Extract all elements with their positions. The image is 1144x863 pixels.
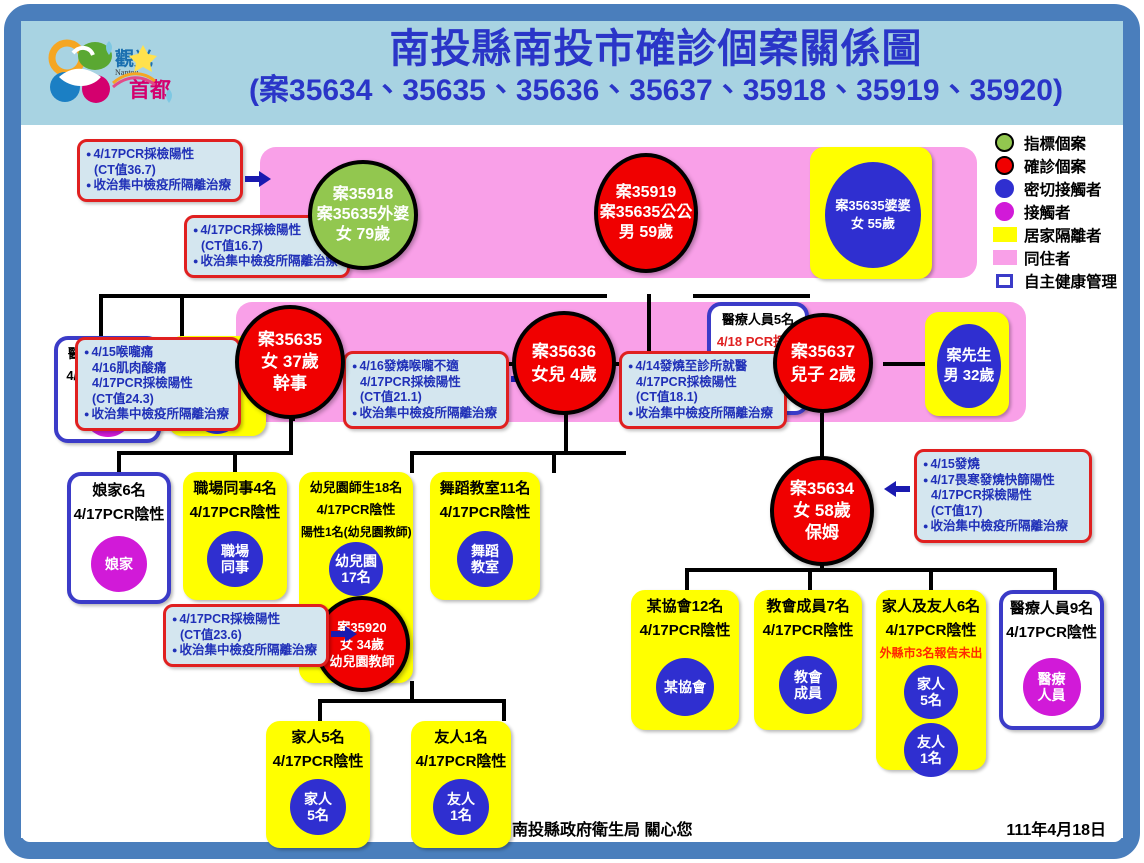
connector <box>883 362 927 366</box>
chip-line: 友人 <box>447 791 475 807</box>
group-coworkers-4[interactable]: 職場同事4名 4/17PCR陰性 職場 同事 <box>183 472 287 600</box>
group-line: 4/17PCR陰性 <box>185 498 285 522</box>
chip-line: 教會 <box>794 669 822 685</box>
callout-line: 收治集中檢疫所隔離治療 <box>172 643 319 659</box>
group-line: 4/17PCR陰性 <box>71 500 167 524</box>
connector <box>410 451 626 455</box>
diagram-canvas: 4/17PCR採檢陽性 (CT值36.7) 收治集中檢疫所隔離治療 4/17PC… <box>21 125 1123 838</box>
node-label: 案35635公公 <box>600 203 693 223</box>
chip-line: 17名 <box>341 569 371 585</box>
legend-label: 接觸者 <box>1024 201 1071 223</box>
callout-line: (CT值36.7) <box>86 163 233 179</box>
connector <box>808 568 812 590</box>
callout-case-35920: 4/17PCR採檢陽性 (CT值23.6) 收治集中檢疫所隔離治療 <box>163 604 329 667</box>
connector <box>117 451 293 455</box>
legend-label: 指標個案 <box>1024 132 1086 154</box>
connector <box>318 699 506 703</box>
chip-line: 某協會 <box>664 679 706 695</box>
legend-label: 自主健康管理 <box>1024 270 1117 292</box>
connector <box>180 294 184 338</box>
group-family-and-friends-6[interactable]: 家人及友人6名 4/17PCR陰性 外縣市3名報告未出 家人 5名 友人 1名 <box>876 590 986 770</box>
legend-swatch-blue-circle-icon <box>993 179 1017 198</box>
chip-line: 娘家 <box>105 556 133 572</box>
chip-line: 成員 <box>794 685 822 701</box>
group-medical-staff-9[interactable]: 醫療人員9名 4/17PCR陰性 醫療 人員 <box>999 590 1104 730</box>
node-case-35637[interactable]: 案35637 兒子 2歲 <box>773 313 873 413</box>
popo-ellipse: 案35635婆婆 女 55歲 <box>825 162 921 268</box>
connector <box>410 451 414 473</box>
legend-swatch-yellow-rect-icon <box>993 227 1017 242</box>
group-line: 4/17PCR陰性 <box>1003 618 1100 642</box>
node-label: 女 79歲 <box>336 225 390 245</box>
node-case-35634[interactable]: 案35634 女 58歲 保姆 <box>770 456 874 566</box>
callout-line: 4/17PCR採檢陽性 <box>86 147 233 163</box>
legend-label: 密切接觸者 <box>1024 178 1102 200</box>
connector <box>99 294 359 298</box>
group-line: 4/17PCR陰性 <box>301 496 411 518</box>
node-label: 幹事 <box>273 373 307 395</box>
close-contact-chip: 幼兒園 17名 <box>329 542 383 596</box>
legend-swatch-blue-outline-icon <box>993 274 1017 288</box>
connector <box>552 451 556 473</box>
callout-line: 4/15發燒 <box>923 457 1082 473</box>
callout-line: 收治集中檢疫所隔離治療 <box>86 178 233 194</box>
connector <box>647 294 651 357</box>
callout-case-35634: 4/15發燒 4/17畏寒發燒快篩陽性 4/17PCR採檢陽性 (CT值17) … <box>914 449 1092 543</box>
close-contact-chip: 友人 1名 <box>433 779 489 835</box>
group-church-7[interactable]: 教會成員7名 4/17PCR陰性 教會 成員 <box>754 590 862 730</box>
connector <box>820 413 824 457</box>
legend-label: 同住者 <box>1024 247 1071 269</box>
group-line: 4/17PCR陰性 <box>268 747 368 771</box>
connector <box>685 568 1057 572</box>
callout-line: (CT值21.1) <box>352 390 499 406</box>
legend-item-index-case: 指標個案 <box>993 131 1117 154</box>
mr-label: 案先生 <box>946 346 991 366</box>
legend-swatch-red-circle-icon <box>993 156 1017 175</box>
node-label: 案35919 <box>616 183 677 203</box>
popo-label: 案35635婆婆 <box>835 197 910 215</box>
close-contact-chip: 職場 同事 <box>207 531 263 587</box>
arrow-to-35634-icon <box>884 481 910 497</box>
legend-label: 居家隔離者 <box>1024 224 1102 246</box>
connector <box>233 451 237 473</box>
chip-line: 幼兒園 <box>335 553 377 569</box>
page-title: 南投縣南投市確診個案關係圖 <box>191 25 1121 73</box>
callout-line: 4/17畏寒發燒快篩陽性 <box>923 473 1082 489</box>
legend-item-self-health-management: 自主健康管理 <box>993 269 1117 292</box>
page-subtitle: (案35634、35635、35636、35637、35918、35919、35… <box>191 73 1121 109</box>
callout-line: 收治集中檢疫所隔離治療 <box>628 406 777 422</box>
group-line: 幼兒園師生18名 <box>301 474 411 496</box>
callout-case-35918: 4/17PCR採檢陽性 (CT值36.7) 收治集中檢疫所隔離治療 <box>77 139 243 202</box>
footer-date: 111年4月18日 <box>1006 816 1106 840</box>
group-line: 友人1名 <box>413 723 509 747</box>
connector <box>502 699 506 721</box>
callout-line: 4/14發燒至診所就醫 <box>628 359 777 375</box>
connector <box>564 413 568 455</box>
mr-label: 男 32歲 <box>944 366 995 386</box>
group-line: 舞蹈教室11名 <box>432 474 538 498</box>
legend-item-home-isolation: 居家隔離者 <box>993 223 1117 246</box>
close-contact-chip: 某協會 <box>656 658 714 716</box>
chip-line: 家人 <box>304 791 332 807</box>
callout-line: 4/17PCR採檢陽性 <box>172 612 319 628</box>
node-label: 案35634 <box>790 478 854 500</box>
callout-line: 收治集中檢疫所隔離治療 <box>923 519 1082 535</box>
node-case-35636[interactable]: 案35636 女兒 4歲 <box>512 311 616 415</box>
connector <box>318 699 322 721</box>
connector <box>289 413 293 455</box>
group-family-5[interactable]: 家人5名 4/17PCR陰性 家人 5名 <box>266 721 370 848</box>
callout-line: 4/17PCR採檢陽性 <box>923 488 1082 504</box>
legend-label: 確診個案 <box>1024 155 1086 177</box>
node-label: 女 58歲 <box>793 500 851 522</box>
group-association-12[interactable]: 某協會12名 4/17PCR陰性 某協會 <box>631 590 739 730</box>
group-natal-family-6[interactable]: 娘家6名 4/17PCR陰性 娘家 <box>67 472 171 604</box>
group-line: 陽性1名(幼兒園教師) <box>301 518 411 540</box>
group-line: 4/17PCR陰性 <box>633 616 737 640</box>
group-line: 4/17PCR陰性 <box>878 616 984 640</box>
connector <box>117 451 121 473</box>
connector <box>1053 568 1057 590</box>
callout-line: (CT值23.6) <box>172 628 319 644</box>
node-case-35918[interactable]: 案35918 案35635外婆 女 79歲 <box>308 160 418 270</box>
chip-line: 1名 <box>920 750 942 766</box>
callout-line: 收治集中檢疫所隔離治療 <box>193 254 340 270</box>
connector <box>99 294 103 338</box>
arrow-to-35920-icon <box>331 626 357 642</box>
mr-ellipse: 案先生 男 32歲 <box>937 324 1001 408</box>
connector <box>685 568 689 590</box>
chip-line: 醫療 <box>1038 671 1066 687</box>
poster-root: 觀光 Nantou 首都 南投縣南投市確診個案關係圖 (案35634、35635… <box>0 0 1144 863</box>
node-label: 案35918 <box>333 185 394 205</box>
legend-item-confirmed-case: 確診個案 <box>993 154 1117 177</box>
chip-line: 5名 <box>307 807 329 823</box>
group-line: 娘家6名 <box>71 476 167 500</box>
callout-line: 收治集中檢疫所隔離治療 <box>352 406 499 422</box>
connector <box>929 568 933 590</box>
connector <box>357 294 607 298</box>
legend-swatch-green-circle-icon <box>993 133 1017 152</box>
nantou-tourism-logo-icon: 觀光 Nantou 首都 <box>43 31 193 116</box>
node-label: 案35636 <box>532 340 596 363</box>
group-line: 醫療人員9名 <box>1003 594 1100 618</box>
footer-organization: 南投縣政府衛生局 關心您 <box>512 816 692 840</box>
close-contact-chip: 家人 5名 <box>904 665 958 719</box>
contact-chip: 醫療 人員 <box>1023 658 1081 716</box>
group-line: 家人5名 <box>268 723 368 747</box>
callout-case-35635: 4/15喉嚨痛 4/16肌肉酸痛 4/17PCR採檢陽性 (CT值24.3) 收… <box>75 337 241 431</box>
node-label: 女兒 4歲 <box>531 363 596 386</box>
legend-swatch-purple-circle-icon <box>993 202 1017 221</box>
group-line: 4/17PCR陰性 <box>413 747 509 771</box>
group-mr-case[interactable]: 案先生 男 32歲 <box>925 312 1009 416</box>
callout-line: 4/17PCR採檢陽性 <box>84 376 231 392</box>
header-banner: 觀光 Nantou 首都 南投縣南投市確診個案關係圖 (案35634、35635… <box>21 21 1123 125</box>
group-line: 4/17PCR陰性 <box>756 616 860 640</box>
callout-line: 4/16肌肉酸痛 <box>84 361 231 377</box>
callout-line: (CT值24.3) <box>84 392 231 408</box>
chip-line: 家人 <box>917 676 945 692</box>
close-contact-chip: 友人 1名 <box>904 723 958 777</box>
group-friend-1[interactable]: 友人1名 4/17PCR陰性 友人 1名 <box>411 721 511 848</box>
callout-line: 4/16發燒喉嚨不適 <box>352 359 499 375</box>
callout-case-35636: 4/16發燒喉嚨不適 4/17PCR採檢陽性 (CT值21.1) 收治集中檢疫所… <box>343 351 509 429</box>
callout-line: 收治集中檢疫所隔離治療 <box>84 407 231 423</box>
close-contact-chip: 家人 5名 <box>290 779 346 835</box>
node-label: 幼兒園教師 <box>329 653 394 670</box>
node-label: 女 37歲 <box>261 351 319 373</box>
close-contact-chip: 教會 成員 <box>779 656 837 714</box>
arrow-to-35918-icon <box>245 171 271 187</box>
group-line: 職場同事4名 <box>185 474 285 498</box>
callout-line: 4/17PCR採檢陽性 <box>352 375 499 391</box>
legend-item-contact: 接觸者 <box>993 200 1117 223</box>
chip-line: 教室 <box>471 559 499 575</box>
node-label: 案35635外婆 <box>317 205 410 225</box>
chip-line: 舞蹈 <box>471 543 499 559</box>
callout-line: 4/15喉嚨痛 <box>84 345 231 361</box>
callout-case-35637: 4/14發燒至診所就醫 4/17PCR採檢陽性 (CT值18.1) 收治集中檢疫… <box>619 351 787 429</box>
legend: 指標個案 確診個案 密切接觸者 接觸者 居家隔離者 同住者 <box>993 131 1117 292</box>
callout-line: 4/17PCR採檢陽性 <box>628 375 777 391</box>
node-label: 男 59歲 <box>619 223 673 243</box>
chip-line: 人員 <box>1038 687 1066 703</box>
group-line: 教會成員7名 <box>756 592 860 616</box>
legend-item-co-resident: 同住者 <box>993 246 1117 269</box>
node-case-35919[interactable]: 案35919 案35635公公 男 59歲 <box>594 153 698 273</box>
node-label: 保姆 <box>805 522 839 544</box>
chip-line: 1名 <box>450 807 472 823</box>
node-label: 案35637 <box>791 340 855 363</box>
node-case-35635[interactable]: 案35635 女 37歲 幹事 <box>235 305 345 419</box>
close-contact-chip: 舞蹈 教室 <box>457 531 513 587</box>
callout-line: (CT值18.1) <box>628 390 777 406</box>
node-label: 兒子 2歲 <box>790 363 855 386</box>
chip-line: 職場 <box>221 543 249 559</box>
group-line: 4/17PCR陰性 <box>432 498 538 522</box>
legend-item-close-contact: 密切接觸者 <box>993 177 1117 200</box>
contact-chip: 娘家 <box>91 536 147 592</box>
group-line: 家人及友人6名 <box>878 592 984 616</box>
connector <box>693 294 810 298</box>
group-popo-35635[interactable]: 案35635婆婆 女 55歲 <box>810 147 932 279</box>
callout-line: (CT值17) <box>923 504 1082 520</box>
group-dance-class-11[interactable]: 舞蹈教室11名 4/17PCR陰性 舞蹈 教室 <box>430 472 540 600</box>
chip-line: 同事 <box>221 559 249 575</box>
group-line: 外縣市3名報告未出 <box>878 640 984 660</box>
popo-label: 女 55歲 <box>851 215 895 233</box>
chip-line: 友人 <box>917 734 945 750</box>
node-label: 案35635 <box>258 329 322 351</box>
legend-swatch-pink-rect-icon <box>993 250 1017 265</box>
chip-line: 5名 <box>920 692 942 708</box>
group-line: 某協會12名 <box>633 592 737 616</box>
